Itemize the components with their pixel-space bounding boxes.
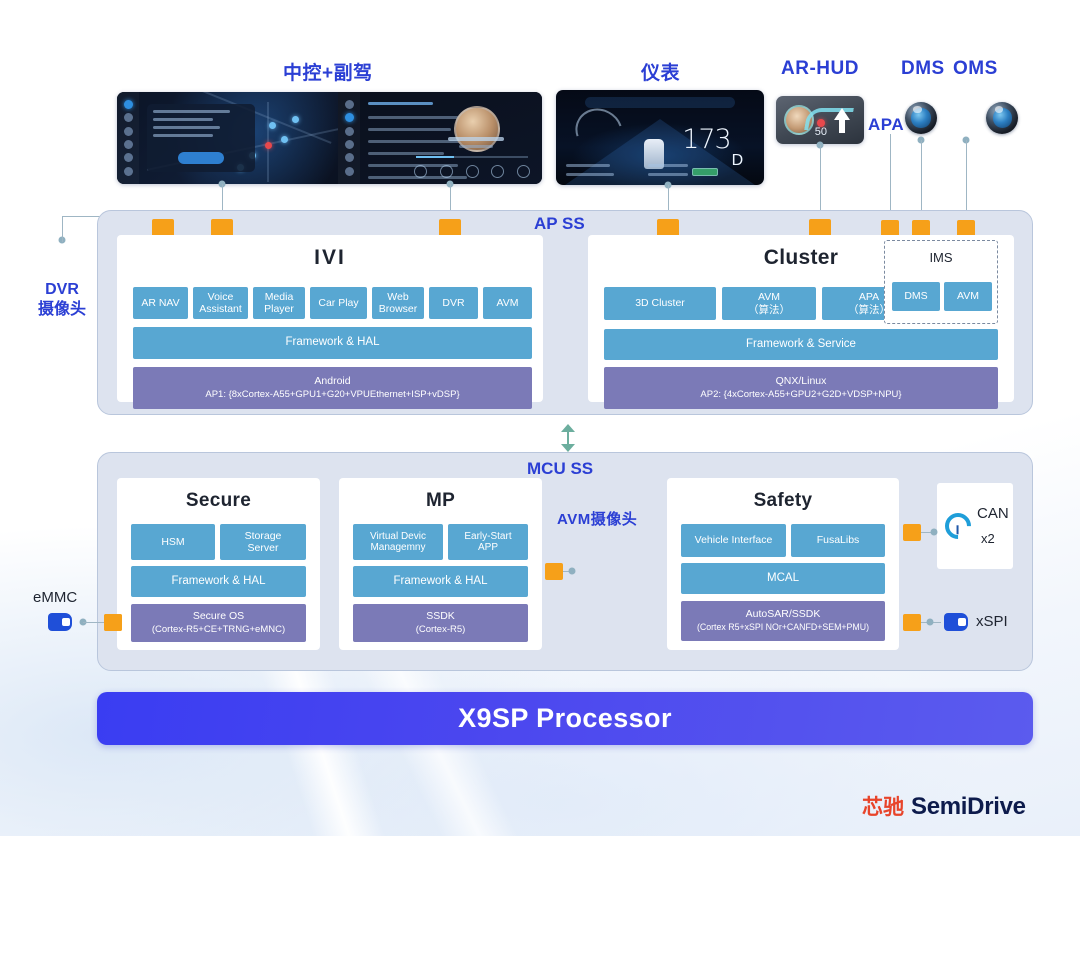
label-apa: APA <box>868 115 904 135</box>
xspi-label: xSPI <box>976 613 1008 630</box>
safety-os-detail: (Cortex R5+xSPI NOr+CANFD+SEM+PMU) <box>697 622 869 633</box>
emmc-connector-line <box>83 622 106 623</box>
cluster-app-3d-cluster[interactable]: 3D Cluster <box>604 287 716 320</box>
ivi-title: IVI <box>117 246 543 270</box>
ivi-app-ar-nav[interactable]: AR NAV <box>133 287 188 319</box>
mcu-connector-xspi <box>903 614 921 631</box>
ivi-app-avm[interactable]: AVM <box>483 287 532 319</box>
ivi-left-rail <box>117 92 139 184</box>
hud-speed-value: 50 <box>815 126 827 138</box>
secure-app-storage-server[interactable]: StorageServer <box>220 524 306 560</box>
label-dms: DMS <box>901 58 945 80</box>
play-button[interactable] <box>466 165 479 178</box>
secure-framework-hal[interactable]: Framework & HAL <box>131 566 306 597</box>
mcu-connector-avm <box>545 563 563 580</box>
safety-app-vehicle-interface[interactable]: Vehicle Interface <box>681 524 786 557</box>
navigation-screen-preview <box>117 92 338 184</box>
cluster-app-avm[interactable]: AVM（算法） <box>722 287 816 320</box>
media-controls[interactable] <box>414 165 530 178</box>
dvr-connector-vline <box>62 216 63 242</box>
oms-camera-eye-icon <box>986 102 1018 134</box>
brand-logo-en: SemiDrive <box>911 793 1026 821</box>
mp-os-name: SSDK <box>426 610 455 624</box>
cluster-card: Cluster 3D Cluster AVM（算法） APA（算法） IMS D… <box>588 235 1014 402</box>
mp-card: MP Virtual DevicManagemny Early-StartAPP… <box>339 478 542 650</box>
seek-bar[interactable] <box>416 156 528 158</box>
label-cluster-display: 仪表 <box>641 58 680 85</box>
mp-os-block[interactable]: SSDK (Cortex-R5) <box>353 604 528 642</box>
ivi-os-detail: AP1: {8xCortex-A55+GPU1+G20+VPUEthernet+… <box>205 389 459 401</box>
cluster-os-detail: AP2: {4xCortex-A55+GPU2+G2D+VDSP+NPU} <box>700 389 901 401</box>
map-action-button[interactable] <box>178 152 224 164</box>
xspi-connector-node <box>927 619 934 626</box>
safety-card: Safety Vehicle Interface FusaLibs MCAL A… <box>667 478 899 650</box>
ar-hud-screen: 50 <box>776 96 864 144</box>
secure-os-detail: (Cortex-R5+CE+TRNG+eMNC) <box>152 624 285 636</box>
dms-camera-eye-icon <box>905 102 937 134</box>
can-count: x2 <box>981 531 995 546</box>
avm-connector-node <box>569 568 576 575</box>
safety-title: Safety <box>667 490 899 512</box>
mp-app-virtual-device-management[interactable]: Virtual DevicManagemny <box>353 524 443 560</box>
hud-turn-arrow-icon <box>834 108 850 120</box>
cluster-os-name: QNX/Linux <box>776 375 827 389</box>
ivi-framework-hal[interactable]: Framework & HAL <box>133 327 532 359</box>
now-playing-text <box>426 137 526 148</box>
processor-bar: X9SP Processor <box>97 692 1033 745</box>
label-arhud: AR-HUD <box>781 58 859 80</box>
center-display-screen <box>117 92 542 184</box>
shuffle-button[interactable] <box>414 165 427 178</box>
ivi-right-rail <box>338 92 360 184</box>
cluster-speed-value: 173 <box>682 124 731 155</box>
label-oms: OMS <box>953 58 998 80</box>
ap-ss-title: AP SS <box>534 214 585 234</box>
mcu-connector-emmc-duplicate <box>104 614 122 631</box>
can-peripheral-box: CAN x2 <box>937 483 1013 569</box>
architecture-diagram: 中控+副驾 仪表 AR-HUD DMS OMS APA <box>0 0 1080 836</box>
secure-title: Secure <box>117 490 320 512</box>
label-center-display: 中控+副驾 <box>283 58 373 85</box>
ivi-card: IVI AR NAV VoiceAssistant MediaPlayer Ca… <box>117 235 543 402</box>
cluster-os-block[interactable]: QNX/Linux AP2: {4xCortex-A55+GPU2+G2D+VD… <box>604 367 998 409</box>
instrument-cluster-screen: 173 D <box>556 90 764 185</box>
avm-cameras-label: AVM摄像头 <box>557 508 637 529</box>
secure-card: Secure HSM StorageServer Framework & HAL… <box>117 478 320 650</box>
ivi-app-dvr[interactable]: DVR <box>429 287 478 319</box>
cluster-status-bar <box>585 97 735 108</box>
previous-button[interactable] <box>440 165 453 178</box>
ivi-os-name: Android <box>314 375 350 389</box>
mcu-connector-can <box>903 524 921 541</box>
ims-group: IMS DMS AVM <box>884 240 998 324</box>
cluster-gear-indicator: D <box>732 152 744 170</box>
safety-os-block[interactable]: AutoSAR/SSDK (Cortex R5+xSPI NOr+CANFD+S… <box>681 601 885 641</box>
ivi-app-voice-assistant[interactable]: VoiceAssistant <box>193 287 248 319</box>
ivi-app-web-browser[interactable]: WebBrowser <box>372 287 424 319</box>
emmc-label: eMMC <box>33 589 77 606</box>
ims-title: IMS <box>885 250 997 265</box>
secure-os-name: Secure OS <box>193 610 244 624</box>
can-connector-node <box>931 529 938 536</box>
map-info-card <box>147 104 255 172</box>
safety-mcal[interactable]: MCAL <box>681 563 885 594</box>
mp-title: MP <box>339 490 542 512</box>
safety-os-name: AutoSAR/SSDK <box>746 608 821 622</box>
gauge-icon <box>940 508 977 545</box>
mp-framework-hal[interactable]: Framework & HAL <box>353 566 528 597</box>
brand-logo-cn: 芯驰 <box>862 791 904 821</box>
ims-app-avm[interactable]: AVM <box>944 282 992 311</box>
brand-logo: 芯驰 SemiDrive <box>862 791 1026 821</box>
emmc-memory-chip-icon <box>48 613 72 631</box>
cluster-framework-service[interactable]: Framework & Service <box>604 329 998 360</box>
repeat-button[interactable] <box>517 165 530 178</box>
mcu-ss-title: MCU SS <box>527 459 593 479</box>
mp-os-detail: (Cortex-R5) <box>416 624 466 636</box>
ivi-os-block[interactable]: Android AP1: {8xCortex-A55+GPU1+G20+VPUE… <box>133 367 532 409</box>
xspi-memory-chip-icon <box>944 613 968 631</box>
secure-os-block[interactable]: Secure OS (Cortex-R5+CE+TRNG+eMNC) <box>131 604 306 642</box>
media-player-screen-preview <box>338 92 542 184</box>
safety-app-fusalibs[interactable]: FusaLibs <box>791 524 885 557</box>
ap-mcu-link-arrow-icon <box>561 424 575 452</box>
ivi-app-media-player[interactable]: MediaPlayer <box>253 287 305 319</box>
ivi-app-car-play[interactable]: Car Play <box>310 287 367 319</box>
cluster-battery-indicator <box>692 168 718 176</box>
ims-app-dms[interactable]: DMS <box>892 282 940 311</box>
mp-app-early-start-app[interactable]: Early-StartAPP <box>448 524 528 560</box>
can-label: CAN <box>977 505 1009 522</box>
next-button[interactable] <box>491 165 504 178</box>
secure-app-hsm[interactable]: HSM <box>131 524 215 560</box>
